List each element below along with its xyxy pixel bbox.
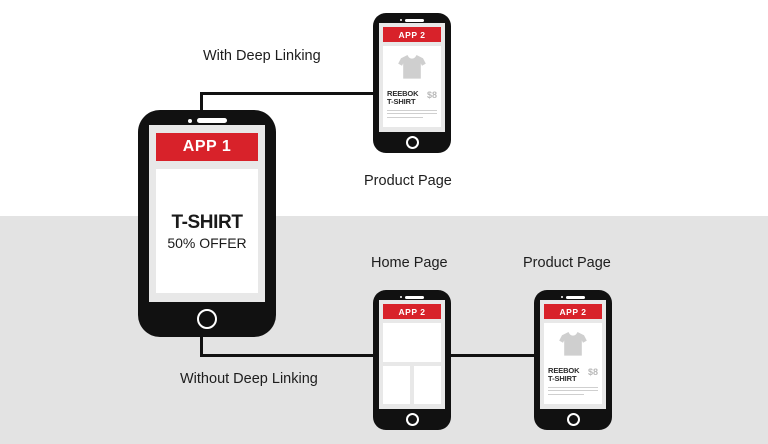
home-button-icon[interactable]: [197, 309, 217, 329]
label-with-deep-linking: With Deep Linking: [203, 48, 321, 64]
connector-nodeeplink-horizontal: [200, 354, 382, 357]
description-line: [387, 117, 423, 118]
camera-dot-icon: [400, 19, 403, 22]
connector-home-to-product: [443, 354, 545, 357]
product-bottom-description-lines: [544, 384, 602, 398]
phone-product-page-top[interactable]: APP 2 REEBOK T-SHIRT $8: [373, 13, 451, 153]
product-top-name-line2: T-SHIRT: [387, 98, 419, 106]
camera-dot-icon: [561, 296, 564, 299]
description-line: [548, 387, 598, 388]
speaker-grille-icon: [405, 296, 424, 299]
tshirt-icon: [383, 46, 441, 88]
label-product-page-top: Product Page: [364, 173, 452, 189]
phone-app1-screen[interactable]: APP 1 T-SHIRT 50% OFFER: [149, 125, 265, 302]
label-without-deep-linking: Without Deep Linking: [180, 371, 318, 387]
connector-deeplink-horizontal: [200, 92, 380, 95]
phone-app1-top-bezel: [138, 110, 276, 125]
tshirt-icon: [544, 323, 602, 365]
phone-product-bottom-bezel: [534, 290, 612, 300]
product-top-name: REEBOK T-SHIRT: [387, 90, 419, 107]
home-app-bar: APP 2: [383, 304, 441, 319]
product-bottom-name-line2: T-SHIRT: [548, 375, 580, 383]
home-button-icon[interactable]: [567, 413, 580, 426]
phone-product-top-screen[interactable]: APP 2 REEBOK T-SHIRT $8: [379, 23, 445, 132]
speaker-grille-icon: [197, 118, 227, 123]
home-hero-block[interactable]: [383, 323, 441, 362]
app1-offer-subtitle: 50% OFFER: [167, 235, 246, 251]
home-left-block[interactable]: [383, 366, 410, 404]
phone-home-screen[interactable]: APP 2: [379, 300, 445, 409]
home-button-icon[interactable]: [406, 136, 419, 149]
product-bottom-app-bar: APP 2: [544, 304, 602, 319]
description-line: [548, 394, 584, 395]
product-bottom-price: $8: [588, 367, 598, 377]
product-bottom-card[interactable]: REEBOK T-SHIRT $8: [544, 323, 602, 404]
phone-home-bezel: [373, 290, 451, 300]
app1-app-bar: APP 1: [156, 133, 258, 161]
product-top-app-bar: APP 2: [383, 27, 441, 42]
camera-dot-icon: [188, 119, 192, 123]
label-home-page: Home Page: [371, 255, 448, 271]
label-product-page-bottom: Product Page: [523, 255, 611, 271]
app1-offer-title: T-SHIRT: [171, 212, 242, 234]
phone-product-page-bottom[interactable]: APP 2 REEBOK T-SHIRT $8: [534, 290, 612, 430]
phone-app1[interactable]: APP 1 T-SHIRT 50% OFFER: [138, 110, 276, 337]
home-button-icon[interactable]: [406, 413, 419, 426]
description-line: [387, 113, 437, 114]
product-bottom-name: REEBOK T-SHIRT: [548, 367, 580, 384]
product-top-description-lines: [383, 107, 441, 121]
phone-home-page[interactable]: APP 2: [373, 290, 451, 430]
home-block-row: [383, 366, 441, 404]
home-content-blocks: [383, 323, 441, 404]
product-top-info: REEBOK T-SHIRT $8: [383, 88, 441, 107]
speaker-grille-icon: [405, 19, 424, 22]
home-right-block[interactable]: [414, 366, 441, 404]
description-line: [548, 390, 598, 391]
phone-product-top-bezel: [373, 13, 451, 23]
app1-offer-card[interactable]: T-SHIRT 50% OFFER: [156, 169, 258, 293]
diagram-canvas: APP 1 T-SHIRT 50% OFFER APP 2: [0, 0, 768, 444]
product-bottom-info: REEBOK T-SHIRT $8: [544, 365, 602, 384]
phone-product-bottom-screen[interactable]: APP 2 REEBOK T-SHIRT $8: [540, 300, 606, 409]
product-top-price: $8: [427, 90, 437, 100]
product-top-card[interactable]: REEBOK T-SHIRT $8: [383, 46, 441, 127]
description-line: [387, 110, 437, 111]
camera-dot-icon: [400, 296, 403, 299]
speaker-grille-icon: [566, 296, 585, 299]
